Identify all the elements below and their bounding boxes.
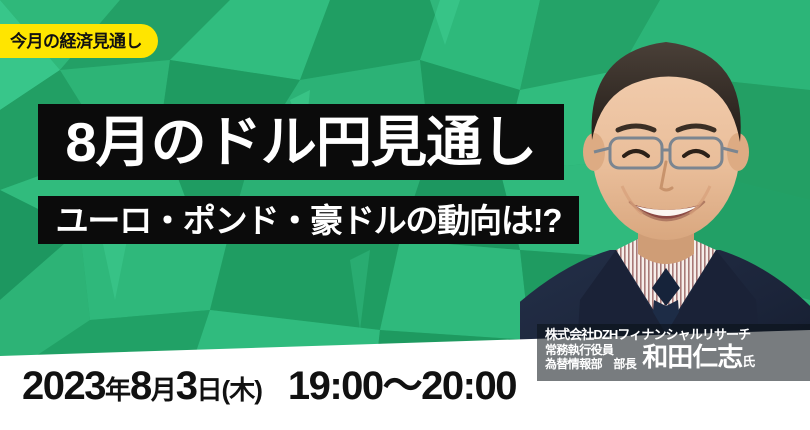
speaker-honorific: 氏: [742, 355, 755, 368]
event-datetime: 2023 年 8 月 3 日 (木) 19:00〜20:00: [22, 366, 516, 406]
speaker-credentials: 株式会社DZHフィナンシャルリサーチ 常務執行役員 為替情報部 部長 和田仁志 …: [537, 324, 810, 381]
category-badge-label: 今月の経済見通し: [10, 33, 142, 50]
event-year: 2023: [22, 366, 105, 406]
event-month-unit: 月: [151, 377, 176, 403]
speaker-roles: 常務執行役員 為替情報部 部長: [545, 343, 636, 371]
sub-title-banner: ユーロ・ポンド・豪ドルの動向は!?: [38, 196, 579, 244]
speaker-name: 和田仁志: [642, 344, 742, 370]
speaker-role-line1: 常務執行役員: [545, 343, 636, 357]
main-title-text: 8月のドル円見通し: [66, 115, 537, 170]
event-day-unit: 日: [197, 377, 222, 403]
event-weekday: (木): [222, 377, 262, 403]
main-title-banner: 8月のドル円見通し: [38, 104, 564, 180]
sub-title-text: ユーロ・ポンド・豪ドルの動向は!?: [56, 204, 562, 237]
category-badge: 今月の経済見通し: [0, 24, 158, 58]
speaker-company: 株式会社DZHフィナンシャルリサーチ: [545, 328, 804, 342]
event-time-range: 19:00〜20:00: [288, 366, 516, 406]
event-day: 3: [176, 366, 197, 406]
speaker-role-line2: 為替情報部 部長: [545, 357, 636, 371]
webinar-banner: 今月の経済見通し 8月のドル円見通し ユーロ・ポンド・豪ドルの動向は!? 202…: [0, 0, 810, 430]
speaker-name-wrap: 和田仁志 氏: [642, 344, 755, 371]
speaker-credentials-lower: 常務執行役員 為替情報部 部長 和田仁志 氏: [545, 343, 804, 371]
event-year-unit: 年: [105, 377, 130, 403]
event-month: 8: [130, 366, 151, 406]
